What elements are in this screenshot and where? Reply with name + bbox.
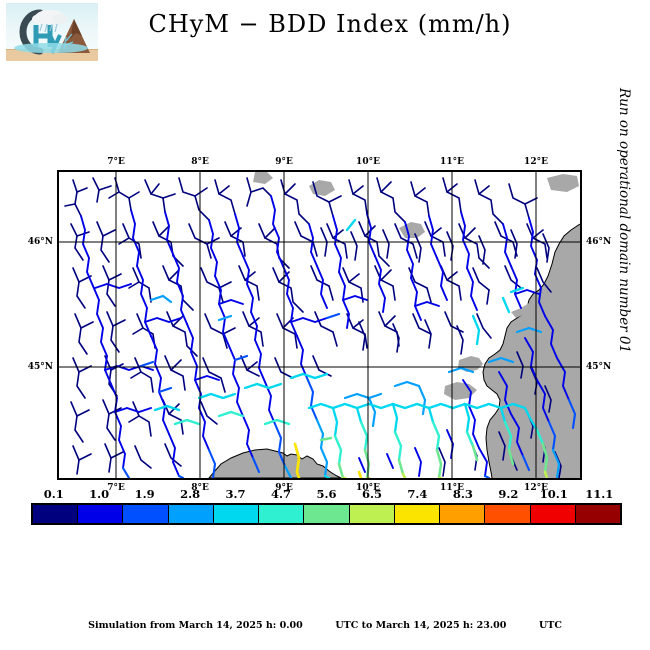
colorbar-label-7: 6.5 xyxy=(362,487,382,501)
simulation-period-caption: Simulation from March 14, 2025 h: 0.00 U… xyxy=(0,620,650,631)
colorbar-label-1: 1.0 xyxy=(89,487,109,501)
colorbar-segment-4 xyxy=(214,505,259,523)
colorbar-label-5: 4.7 xyxy=(271,487,291,501)
colorbar-label-2: 1.9 xyxy=(135,487,155,501)
lon-label-top-2: 9°E xyxy=(275,157,293,167)
chym-bdd-index-figure: CHyM − BDD Index (mm/h) Run on operation… xyxy=(0,0,650,650)
colorbar-segment-10 xyxy=(485,505,530,523)
lon-label-top-0: 7°E xyxy=(107,157,125,167)
colorbar-label-9: 8.3 xyxy=(453,487,473,501)
lat-label-left-1: 45°N xyxy=(28,362,53,372)
lon-label-top-1: 8°E xyxy=(191,157,209,167)
colorbar-swatches xyxy=(31,503,622,525)
lat-label-right-1: 45°N xyxy=(586,362,611,372)
simulation-end: UTC to March 14, 2025 h: 23.00 xyxy=(335,620,506,631)
colorbar-segment-3 xyxy=(169,505,214,523)
chym-logo xyxy=(6,3,98,61)
colorbar-segment-6 xyxy=(304,505,349,523)
logo-water xyxy=(14,43,88,53)
colorbar-segment-0 xyxy=(33,505,78,523)
lon-label-top-5: 12°E xyxy=(524,157,548,167)
map-panel: 7°E 8°E 9°E 10°E 11°E 12°E 7°E 8°E 9°E 1… xyxy=(57,170,582,480)
colorbar-segment-5 xyxy=(259,505,304,523)
lon-label-top-4: 11°E xyxy=(440,157,464,167)
colorbar-label-8: 7.4 xyxy=(407,487,427,501)
simulation-start: Simulation from March 14, 2025 h: 0.00 xyxy=(88,620,303,631)
colorbar-label-0: 0.1 xyxy=(44,487,64,501)
river-network-map xyxy=(59,172,580,478)
simulation-timezone: UTC xyxy=(539,620,562,631)
lat-label-left-0: 46°N xyxy=(28,237,53,247)
colorbar-segment-8 xyxy=(395,505,440,523)
lon-label-top-3: 10°E xyxy=(356,157,380,167)
colorbar-label-6: 5.6 xyxy=(316,487,336,501)
colorbar-label-12: 11.1 xyxy=(585,487,613,501)
colorbar-label-11: 10.1 xyxy=(540,487,568,501)
colorbar: 0.11.01.92.83.74.75.66.57.48.39.210.111.… xyxy=(31,487,622,529)
colorbar-segment-7 xyxy=(350,505,395,523)
colorbar-segment-2 xyxy=(123,505,168,523)
colorbar-label-10: 9.2 xyxy=(498,487,518,501)
colorbar-label-4: 3.7 xyxy=(226,487,246,501)
page-title: CHyM − BDD Index (mm/h) xyxy=(140,10,520,38)
colorbar-segment-9 xyxy=(440,505,485,523)
side-note-text: Run on operational domain number 01 xyxy=(616,88,632,353)
colorbar-segment-12 xyxy=(576,505,620,523)
side-note: Run on operational domain number 01 xyxy=(612,88,636,468)
map-plot-area xyxy=(57,170,582,480)
colorbar-segment-1 xyxy=(78,505,123,523)
lat-label-right-0: 46°N xyxy=(586,237,611,247)
colorbar-segment-11 xyxy=(531,505,576,523)
colorbar-tick-labels: 0.11.01.92.83.74.75.66.57.48.39.210.111.… xyxy=(31,487,622,501)
colorbar-label-3: 2.8 xyxy=(180,487,200,501)
